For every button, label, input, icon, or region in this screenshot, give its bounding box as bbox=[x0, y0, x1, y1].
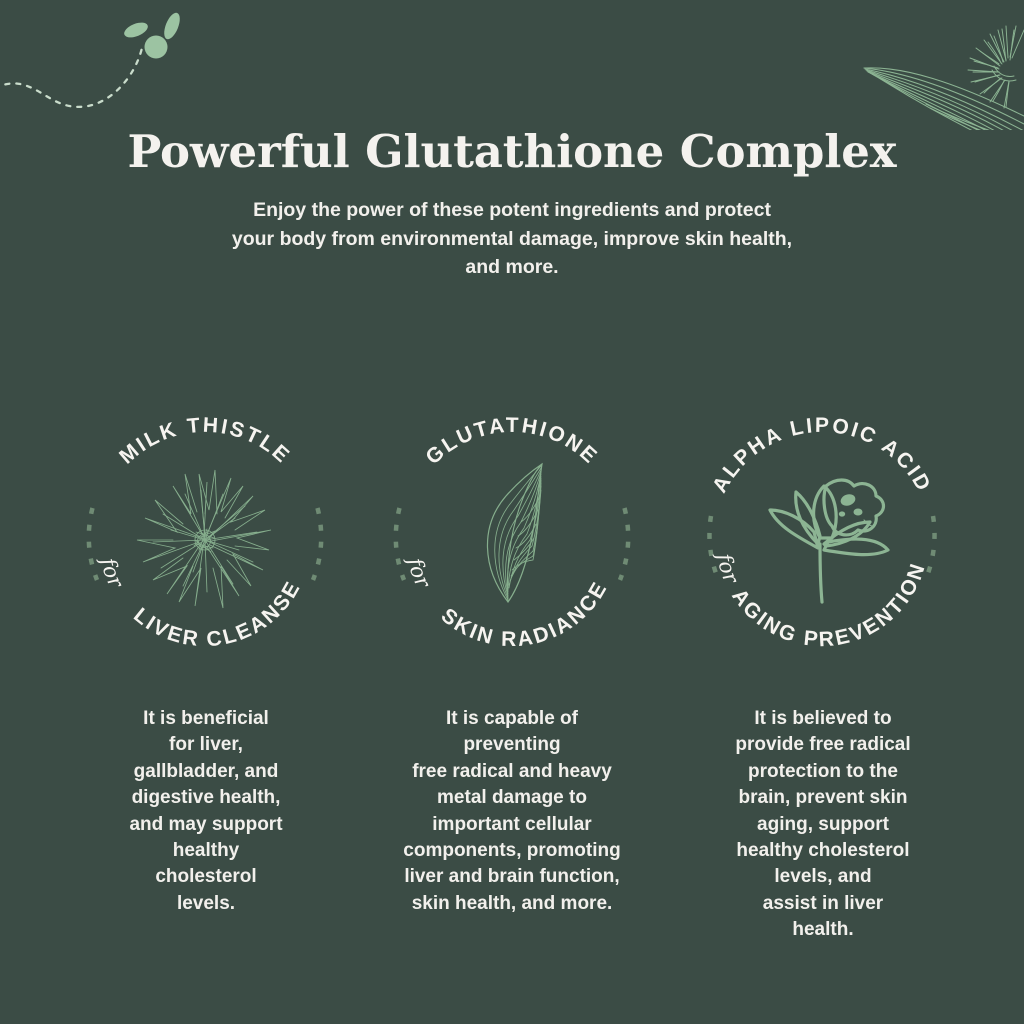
description-column-alpha-lipoic-acid: It is believed to provide free radical p… bbox=[692, 706, 954, 944]
description-line: It is beneficial bbox=[75, 706, 337, 732]
dashed-arc-right bbox=[313, 508, 321, 580]
description-line: important cellular bbox=[360, 812, 664, 838]
description-line: aging, support bbox=[692, 812, 954, 838]
thistle-flower-icon bbox=[137, 470, 271, 608]
header: Powerful Glutathione Complex Enjoy the p… bbox=[0, 128, 1024, 282]
subtitle-line: and more. bbox=[167, 253, 857, 282]
ingredient-badges: MILK THISTLE for LIVER CLEANSE bbox=[0, 404, 1024, 676]
description-line: It is believed to bbox=[692, 706, 954, 732]
badge-for-label: for bbox=[402, 554, 436, 594]
badge-for-label: for bbox=[712, 550, 744, 589]
description-line: digestive health, bbox=[75, 785, 337, 811]
subtitle-line: Enjoy the power of these potent ingredie… bbox=[167, 196, 857, 225]
description-line: provide free radical bbox=[692, 732, 954, 758]
badge-alpha-lipoic-acid: ALPHA LIPOIC ACID for AGING PREVENTION bbox=[686, 404, 958, 676]
badge-bottom-label: LIVER CLEANSE bbox=[129, 576, 305, 651]
description-line: preventing bbox=[360, 732, 664, 758]
subtitle-line: your body from environmental damage, imp… bbox=[167, 225, 857, 254]
description-column-glutathione: It is capable of preventing free radical… bbox=[360, 706, 664, 917]
badge-glutathione: GLUTATHIONE for SKIN RADIANCE bbox=[376, 404, 648, 676]
badge-bottom-label: SKIN RADIANCE bbox=[437, 577, 613, 651]
page-title: Powerful Glutathione Complex bbox=[0, 128, 1024, 176]
description-line: protection to the bbox=[692, 759, 954, 785]
description-line: components, promoting bbox=[360, 838, 664, 864]
description-line: levels. bbox=[75, 891, 337, 917]
badge-top-label: GLUTATHIONE bbox=[422, 414, 603, 469]
description-line: skin health, and more. bbox=[360, 891, 664, 917]
badge-milk-thistle: MILK THISTLE for LIVER CLEANSE bbox=[69, 404, 341, 676]
badge-top-label: ALPHA LIPOIC ACID bbox=[708, 414, 936, 497]
badge-for-label: for bbox=[95, 554, 129, 594]
description-line: assist in liver bbox=[692, 891, 954, 917]
dashed-arc-left bbox=[89, 508, 97, 580]
description-line: metal damage to bbox=[360, 785, 664, 811]
description-line: healthy bbox=[75, 838, 337, 864]
description-line: brain, prevent skin bbox=[692, 785, 954, 811]
badge-bottom-label: AGING PREVENTION bbox=[727, 559, 930, 651]
description-line: health. bbox=[692, 917, 954, 943]
dashed-arc-left bbox=[396, 508, 404, 580]
dashed-arc-right bbox=[620, 508, 628, 580]
leaf-icon bbox=[487, 464, 542, 602]
bloom-flower-icon bbox=[770, 480, 888, 602]
description-line: cholesterol bbox=[75, 864, 337, 890]
infographic-canvas: Powerful Glutathione Complex Enjoy the p… bbox=[0, 0, 1024, 1024]
description-column-milk-thistle: It is beneficial for liver, gallbladder,… bbox=[75, 706, 337, 917]
description-line: gallbladder, and bbox=[75, 759, 337, 785]
description-line: levels, and bbox=[692, 864, 954, 890]
description-line: and may support bbox=[75, 812, 337, 838]
description-line: liver and brain function, bbox=[360, 864, 664, 890]
description-line: It is capable of bbox=[360, 706, 664, 732]
description-line: healthy cholesterol bbox=[692, 838, 954, 864]
badge-top-label: MILK THISTLE bbox=[115, 414, 295, 469]
dandelion-seed-trail-icon bbox=[0, 0, 250, 130]
description-line: for liver, bbox=[75, 732, 337, 758]
description-line: free radical and heavy bbox=[360, 759, 664, 785]
subtitle: Enjoy the power of these potent ingredie… bbox=[167, 196, 857, 283]
thistle-leaves-icon bbox=[834, 0, 1024, 130]
